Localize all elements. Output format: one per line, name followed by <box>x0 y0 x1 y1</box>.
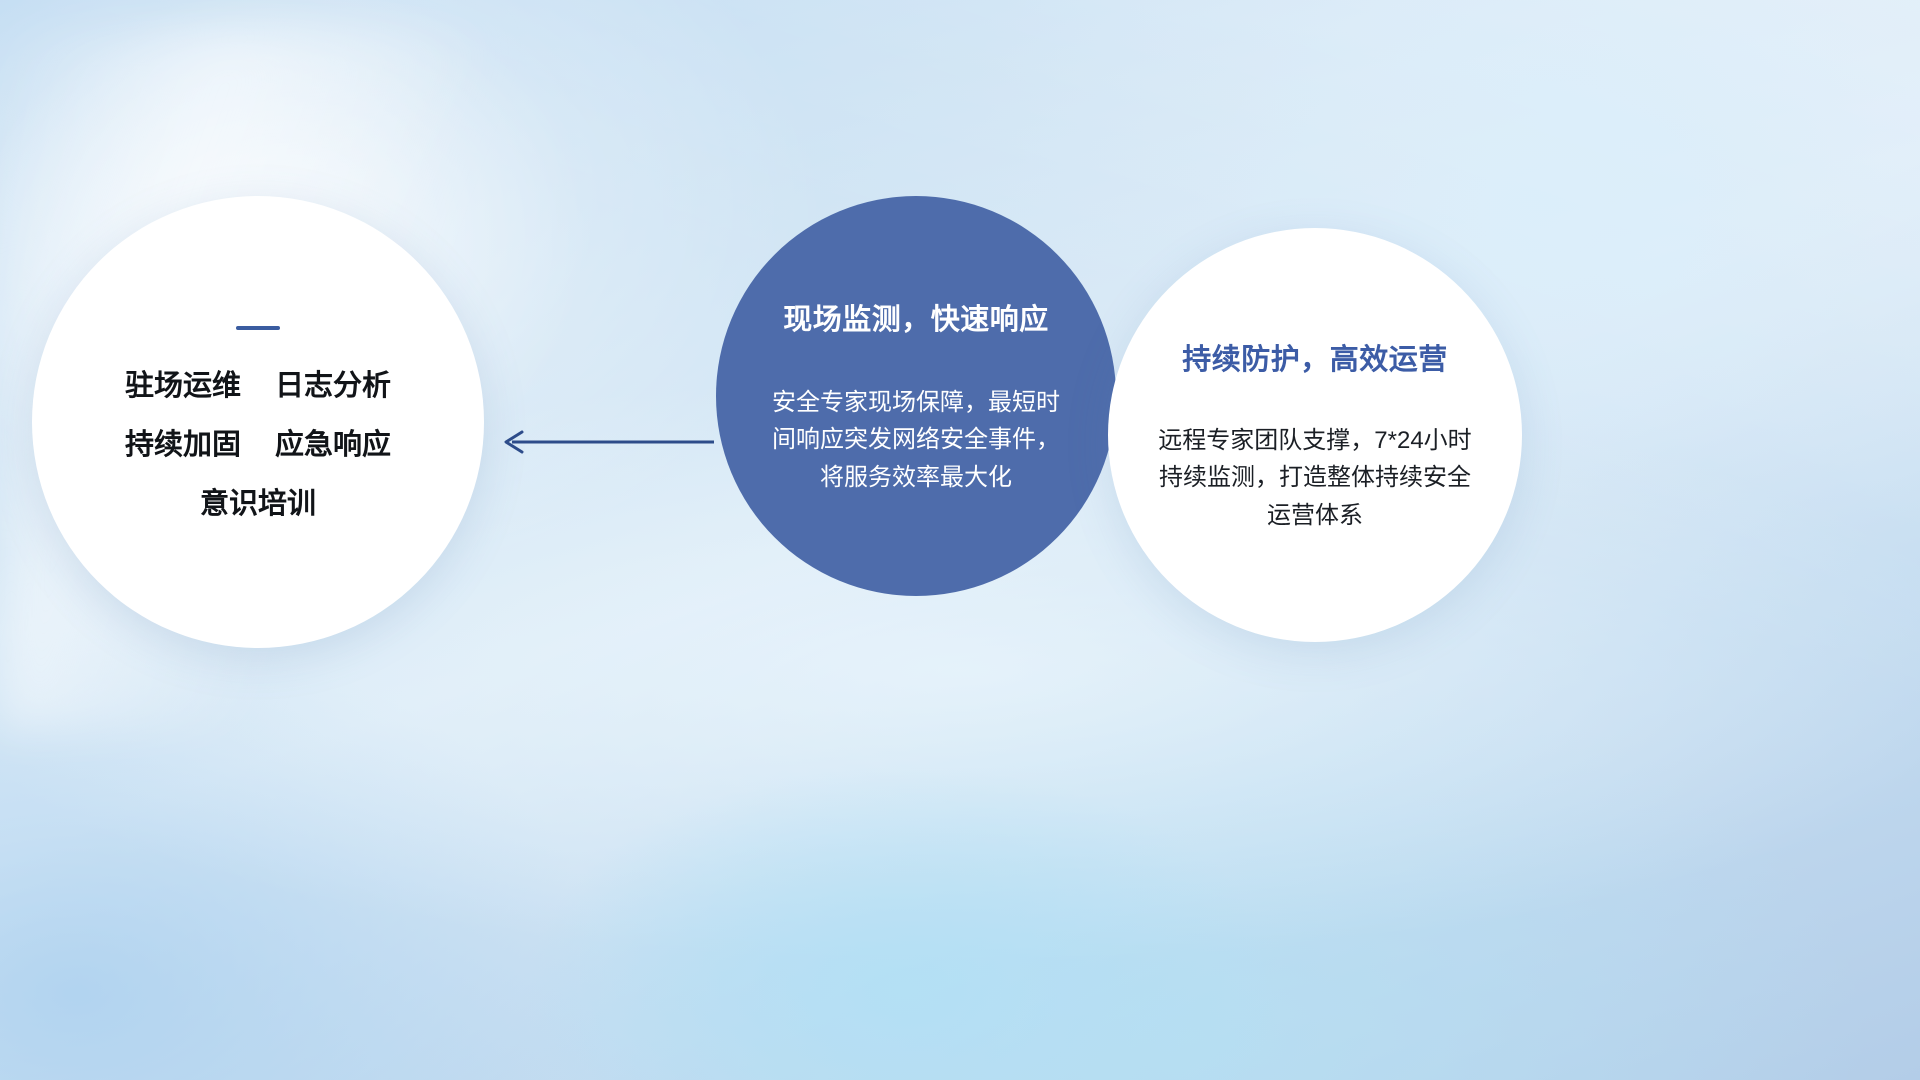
skill-row: 驻场运维 日志分析 <box>125 372 391 401</box>
skill-row: 持续加固 应急响应 <box>125 431 391 460</box>
diagram-stage: 驻场运维 日志分析 持续加固 应急响应 意识培训 现场监测，快速响应 安全专家现… <box>0 0 1920 1080</box>
circle-onsite-title: 现场监测，快速响应 <box>783 296 1049 338</box>
skill-tag[interactable]: 持续加固 <box>125 431 241 460</box>
skill-tag[interactable]: 驻场运维 <box>125 372 241 401</box>
circle-remote-operations[interactable]: 持续防护，高效运营 远程专家团队支撑，7*24小时持续监测，打造整体持续安全运营… <box>1108 228 1522 642</box>
circle-remote-body: 远程专家团队支撑，7*24小时持续监测，打造整体持续安全运营体系 <box>1150 422 1480 534</box>
skill-tag[interactable]: 意识培训 <box>200 490 316 519</box>
skill-row: 意识培训 <box>200 490 316 519</box>
title-rule-divider <box>236 326 280 330</box>
skill-tag[interactable]: 日志分析 <box>275 372 391 401</box>
circle-remote-title: 持续防护，高效运营 <box>1182 336 1448 378</box>
skill-tag[interactable]: 应急响应 <box>275 431 391 460</box>
circle-onsite-monitoring[interactable]: 现场监测，快速响应 安全专家现场保障，最短时间响应突发网络安全事件，将服务效率最… <box>716 196 1116 596</box>
flow-arrow-left-icon <box>496 420 718 464</box>
circle-skills[interactable]: 驻场运维 日志分析 持续加固 应急响应 意识培训 <box>32 196 484 648</box>
circle-onsite-body: 安全专家现场保障，最短时间响应突发网络安全事件，将服务效率最大化 <box>766 384 1066 496</box>
